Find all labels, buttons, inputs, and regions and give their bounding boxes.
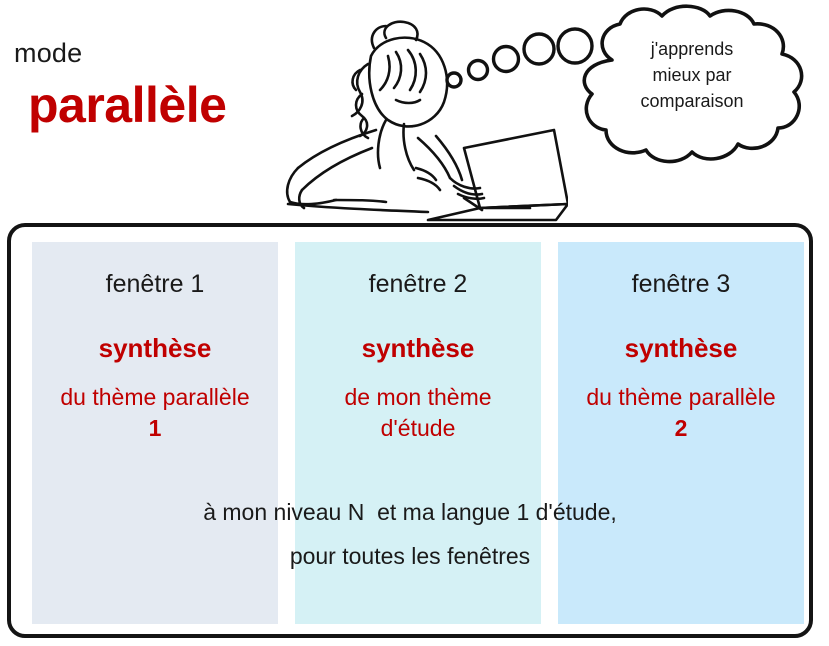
window-panel-2-label: fenêtre 2 [295,269,541,299]
panels-row: fenêtre 1 synthèse du thème parallèle 1 … [32,242,804,624]
window-panel-3-detail-line: du thème parallèle [562,382,800,413]
window-panel-2-detail-emphasis: d'étude [299,413,537,444]
window-panel-1-detail-line: du thème parallèle [36,382,274,413]
thought-bubble-line-1: j'apprends [651,39,734,59]
window-panel-1-label: fenêtre 1 [32,269,278,299]
page-title-parallele: parallèle [28,78,284,132]
window-panel-2-heading: synthèse [295,333,541,363]
page-title-mode: mode [14,38,284,68]
window-panel-1-heading: synthèse [32,333,278,363]
window-panel-2-detail-line: de mon thème [299,382,537,413]
page-title: mode parallèle [14,38,284,132]
window-panel-1-detail: du thème parallèle 1 [32,382,278,444]
window-panel-2-detail: de mon thème d'étude [295,382,541,444]
thought-bubble-line-3: comparaison [640,91,743,111]
window-panel-3-detail: du thème parallèle 2 [558,382,804,444]
window-panel-3-heading: synthèse [558,333,804,363]
window-panel-3-detail-emphasis: 2 [562,413,800,444]
thought-bubble-line-2: mieux par [652,65,731,85]
thought-bubble-text: j'apprends mieux par comparaison [612,36,772,114]
window-panel-1-detail-emphasis: 1 [36,413,274,444]
window-panel-3[interactable]: fenêtre 3 synthèse du thème parallèle 2 [558,242,804,624]
windows-container: fenêtre 1 synthèse du thème parallèle 1 … [7,223,813,638]
window-panel-1[interactable]: fenêtre 1 synthèse du thème parallèle 1 [32,242,278,624]
window-panel-3-label: fenêtre 3 [558,269,804,299]
header-region: mode parallèle [0,0,829,223]
window-panel-2[interactable]: fenêtre 2 synthèse de mon thème d'étude [295,242,541,624]
